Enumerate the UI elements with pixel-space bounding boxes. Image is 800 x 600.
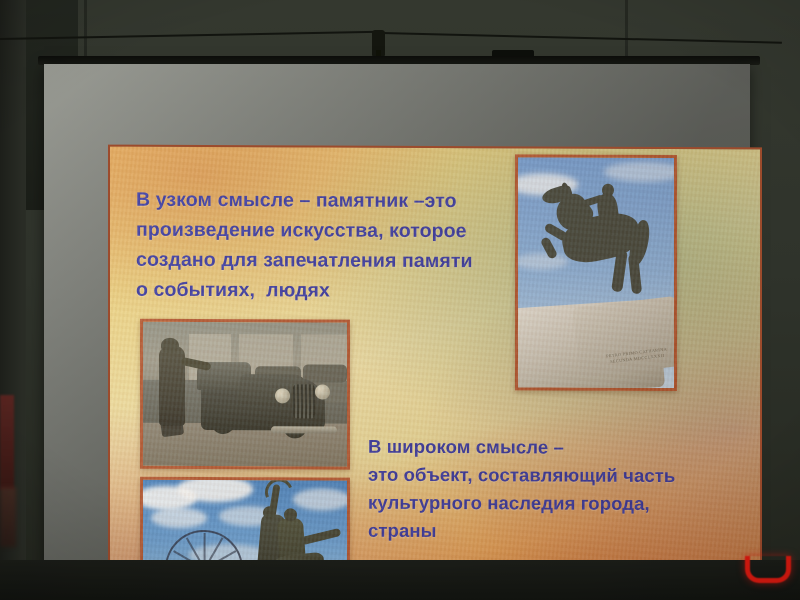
presentation-slide: В узком смысле – памятник –это произведе…	[108, 145, 762, 600]
text-block-narrow-sense: В узком смысле – памятник –это произведе…	[136, 185, 518, 307]
car-headlight	[275, 388, 290, 403]
vintage-car-grille	[293, 384, 315, 418]
red-object-left-lower	[0, 487, 16, 547]
slide-line: страны	[368, 517, 738, 547]
photo-scene: В узком смысле – памятник –это произведе…	[0, 0, 800, 600]
statue-head	[161, 338, 179, 353]
rider-head	[602, 184, 614, 197]
slide-line: культурного наследия города,	[368, 489, 738, 519]
cloud	[151, 508, 207, 528]
wall-lower-dark	[0, 560, 800, 600]
slide-line: В узком смысле – памятник –это	[136, 185, 518, 217]
text-block-broad-sense: В широком смысле – это объект, составляю…	[368, 433, 738, 547]
car-headlight	[315, 384, 330, 399]
photo-bronze-horseman: PETRO PRIMO CATHARINA SECUNDA MDCCLXXXII	[515, 154, 677, 391]
slide-line: это объект, составляющий часть	[368, 461, 738, 491]
projection-screen: В узком смысле – памятник –это произведе…	[44, 64, 750, 570]
statue-head	[284, 508, 297, 521]
slide-line: В широком смысле –	[368, 433, 738, 463]
red-object-left	[0, 395, 14, 490]
photo-car-monument	[140, 319, 350, 470]
statue-head	[263, 506, 276, 519]
bronze-statue-figure	[159, 346, 185, 426]
slide-line: о событиях, людях	[136, 275, 518, 307]
cloud	[515, 253, 568, 269]
car-bumper	[271, 426, 337, 433]
cloud	[293, 488, 350, 510]
cloud	[177, 477, 253, 502]
red-indicator-light	[745, 556, 791, 583]
slide-line: произведение искусства, которое	[136, 215, 518, 247]
granite-plinth-top	[572, 296, 677, 378]
slide-line: создано для запечатления памяти	[136, 245, 518, 277]
